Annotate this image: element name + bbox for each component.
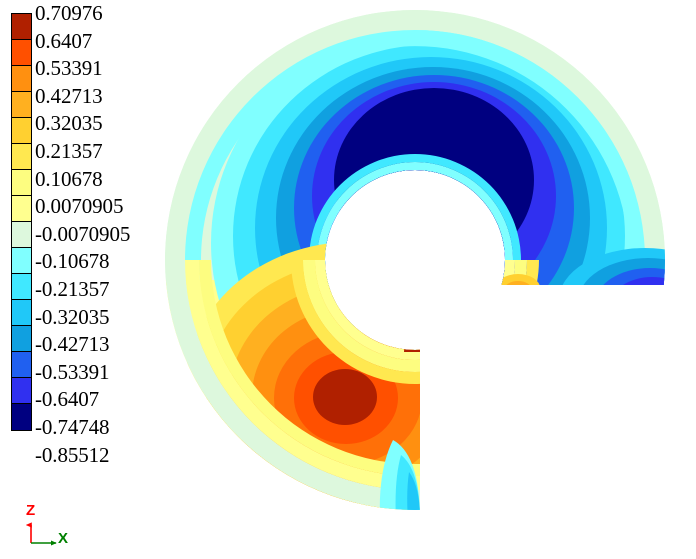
filled-contour-field: [0, 0, 696, 559]
contour-plot-figure: 0.709760.64070.533910.427130.320350.2135…: [0, 0, 696, 559]
